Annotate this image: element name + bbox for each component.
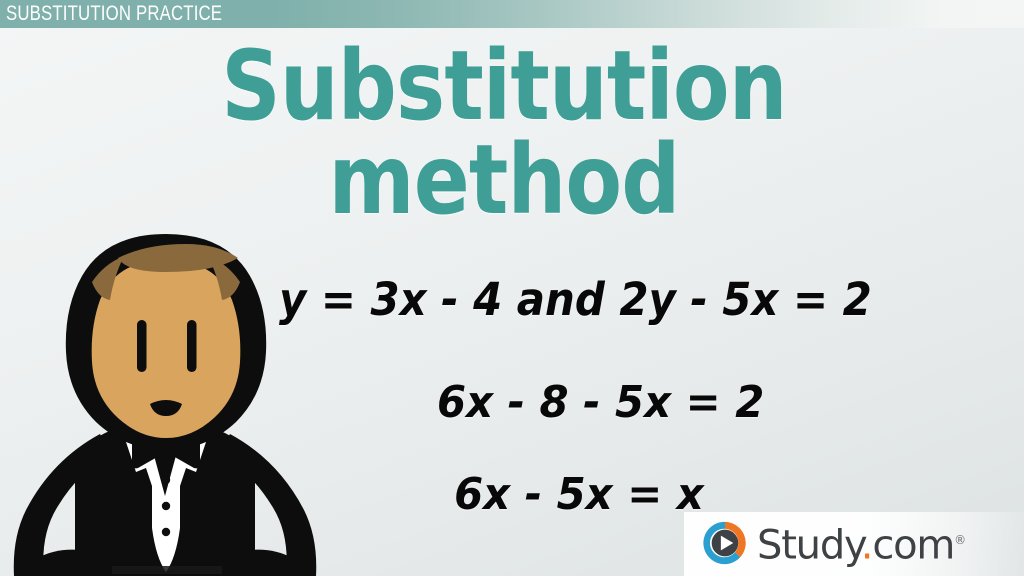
- study-com-logo[interactable]: Study.com®: [702, 518, 966, 568]
- left-eye: [137, 320, 147, 372]
- logo-dot: .: [861, 523, 873, 569]
- page-title-line-1: Substitution: [64, 38, 945, 134]
- slide-canvas: SUBSTITUTION PRACTICE Substitution metho…: [0, 0, 1024, 576]
- play-button-ring-icon: [702, 520, 748, 566]
- logo-word-study: Study: [757, 523, 861, 569]
- logo-word-com: com: [872, 523, 954, 569]
- right-eye: [187, 320, 197, 372]
- topic-banner-label: SUBSTITUTION PRACTICE: [6, 0, 222, 28]
- character-head: [66, 234, 266, 450]
- study-com-wordmark: Study.com®: [757, 518, 966, 567]
- registered-trademark-icon: ®: [954, 533, 966, 547]
- page-title-line-2: method: [64, 132, 945, 228]
- topic-banner: SUBSTITUTION PRACTICE: [0, 0, 1024, 28]
- cartoon-man-illustration: [0, 228, 330, 576]
